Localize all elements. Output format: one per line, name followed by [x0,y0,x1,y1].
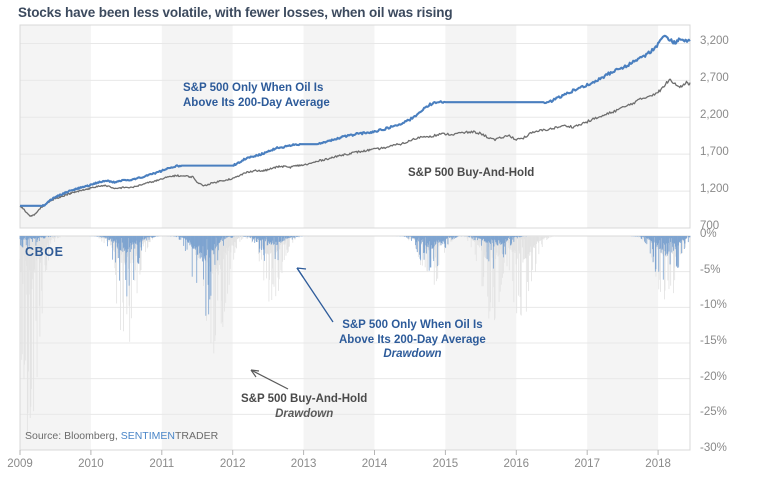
annotation-line-2: Drawdown [241,407,367,422]
source-brand-blue: SENTIMEN [121,430,175,442]
xtick-label-2010: 2010 [69,458,113,470]
drawdown-ytick-30pct: -30% [700,442,727,454]
price-ytick-1200: 1,200 [700,183,729,195]
annotation-buyhold-price: S&P 500 Buy-And-Hold [408,166,534,181]
xtick-label-2017: 2017 [565,458,609,470]
price-ytick-2200: 2,200 [700,109,729,121]
leader-line-buyhold-drawdown [251,370,288,389]
drawdown-ytick-5pct: -5% [700,264,720,276]
annotation-line-1: S&P 500 Only When Oil Is [339,318,486,333]
year-band-price-1 [162,25,233,228]
year-band-price-2 [304,25,375,228]
drawdown-ytick-25pct: -25% [700,406,727,418]
xtick-label-2012: 2012 [211,458,255,470]
chart-container: Stocks have been less volatile, with few… [0,0,772,480]
source-brand-gray: TRADER [175,430,218,442]
annotation-line-1: S&P 500 Only When Oil Is [183,81,330,96]
price-ytick-2700: 2,700 [700,72,729,84]
year-band-price-3 [445,25,516,228]
xtick-label-2016: 2016 [494,458,538,470]
annotation-line-1: S&P 500 Buy-And-Hold [241,392,367,407]
annotation-line-3: Drawdown [339,347,486,362]
cboe-watermark: CBOE [25,245,64,259]
price-chart-svg [0,0,772,480]
annotation-line-1: S&P 500 Buy-And-Hold [408,166,534,181]
annotation-buyhold-drawdown: S&P 500 Buy-And-Hold Drawdown [241,392,367,421]
xtick-label-2009: 2009 [0,458,42,470]
drawdown-ytick-20pct: -20% [700,371,727,383]
source-credit: Source: Bloomberg, SENTIMENTRADER [25,430,218,442]
annotation-strategy-price: S&P 500 Only When Oil Is Above Its 200-D… [183,81,330,110]
drawdown-ytick-0pct: 0% [700,228,717,240]
annotation-strategy-drawdown: S&P 500 Only When Oil Is Above Its 200-D… [339,318,486,362]
xtick-label-2013: 2013 [282,458,326,470]
price-ytick-1700: 1,700 [700,146,729,158]
year-band-price-4 [587,25,658,228]
drawdown-ytick-15pct: -15% [700,335,727,347]
xtick-label-2011: 2011 [140,458,184,470]
annotation-line-2: Above Its 200-Day Average [183,96,330,111]
drawdown-ytick-10pct: -10% [700,299,727,311]
xtick-label-2014: 2014 [352,458,396,470]
xtick-label-2015: 2015 [423,458,467,470]
source-prefix: Source: Bloomberg, [25,430,121,442]
annotation-line-2: Above Its 200-Day Average [339,333,486,348]
xtick-label-2018: 2018 [636,458,680,470]
price-ytick-3200: 3,200 [700,35,729,47]
